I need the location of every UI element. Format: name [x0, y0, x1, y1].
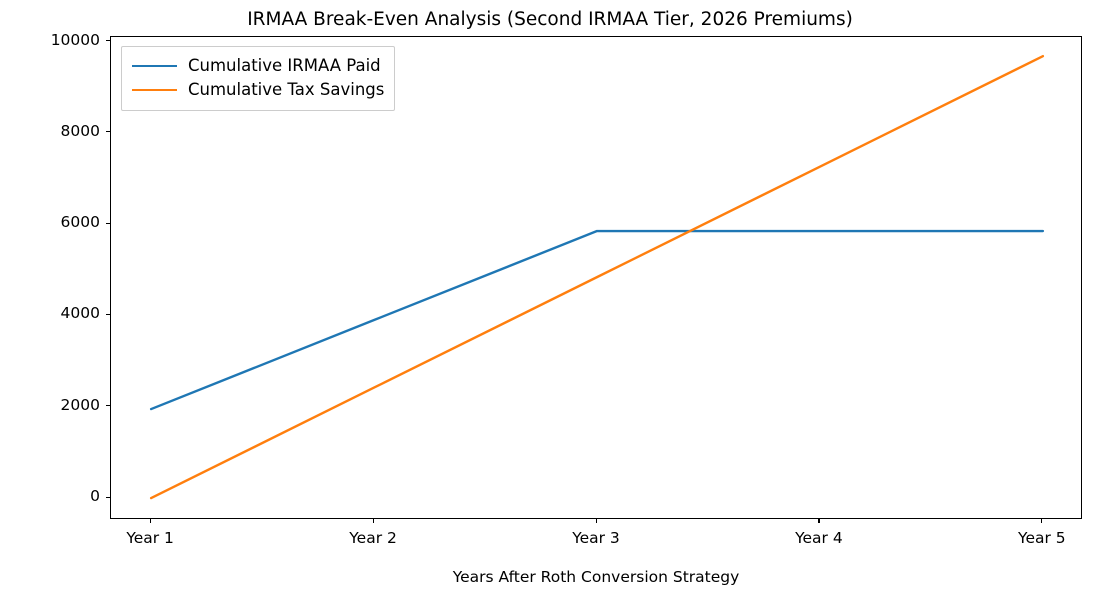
x-tick-label: Year 5	[982, 531, 1100, 547]
chart-legend: Cumulative IRMAA PaidCumulative Tax Savi…	[121, 46, 395, 111]
legend-item[interactable]: Cumulative Tax Savings	[132, 78, 384, 102]
x-tick-label: Year 3	[536, 531, 656, 547]
legend-label: Cumulative Tax Savings	[188, 82, 384, 99]
y-tick-label: 6000	[0, 215, 100, 231]
chart-figure: IRMAA Break-Even Analysis (Second IRMAA …	[0, 0, 1100, 601]
legend-color-swatch	[132, 89, 177, 91]
chart-title: IRMAA Break-Even Analysis (Second IRMAA …	[0, 9, 1100, 30]
x-tick-label: Year 2	[313, 531, 433, 547]
y-tick-label: 2000	[0, 398, 100, 414]
legend-label: Cumulative IRMAA Paid	[188, 58, 381, 75]
x-tick-label: Year 1	[90, 531, 210, 547]
legend-item[interactable]: Cumulative IRMAA Paid	[132, 54, 384, 78]
y-tick-label: 8000	[0, 124, 100, 140]
series-line	[151, 231, 1043, 409]
legend-color-swatch	[132, 65, 177, 67]
series-line	[151, 56, 1043, 498]
y-tick-label: 10000	[0, 33, 100, 49]
y-tick-label: 0	[0, 489, 100, 505]
x-tick-label: Year 4	[759, 531, 879, 547]
y-tick-label: 4000	[0, 306, 100, 322]
x-axis-label: Years After Roth Conversion Strategy	[110, 568, 1082, 586]
